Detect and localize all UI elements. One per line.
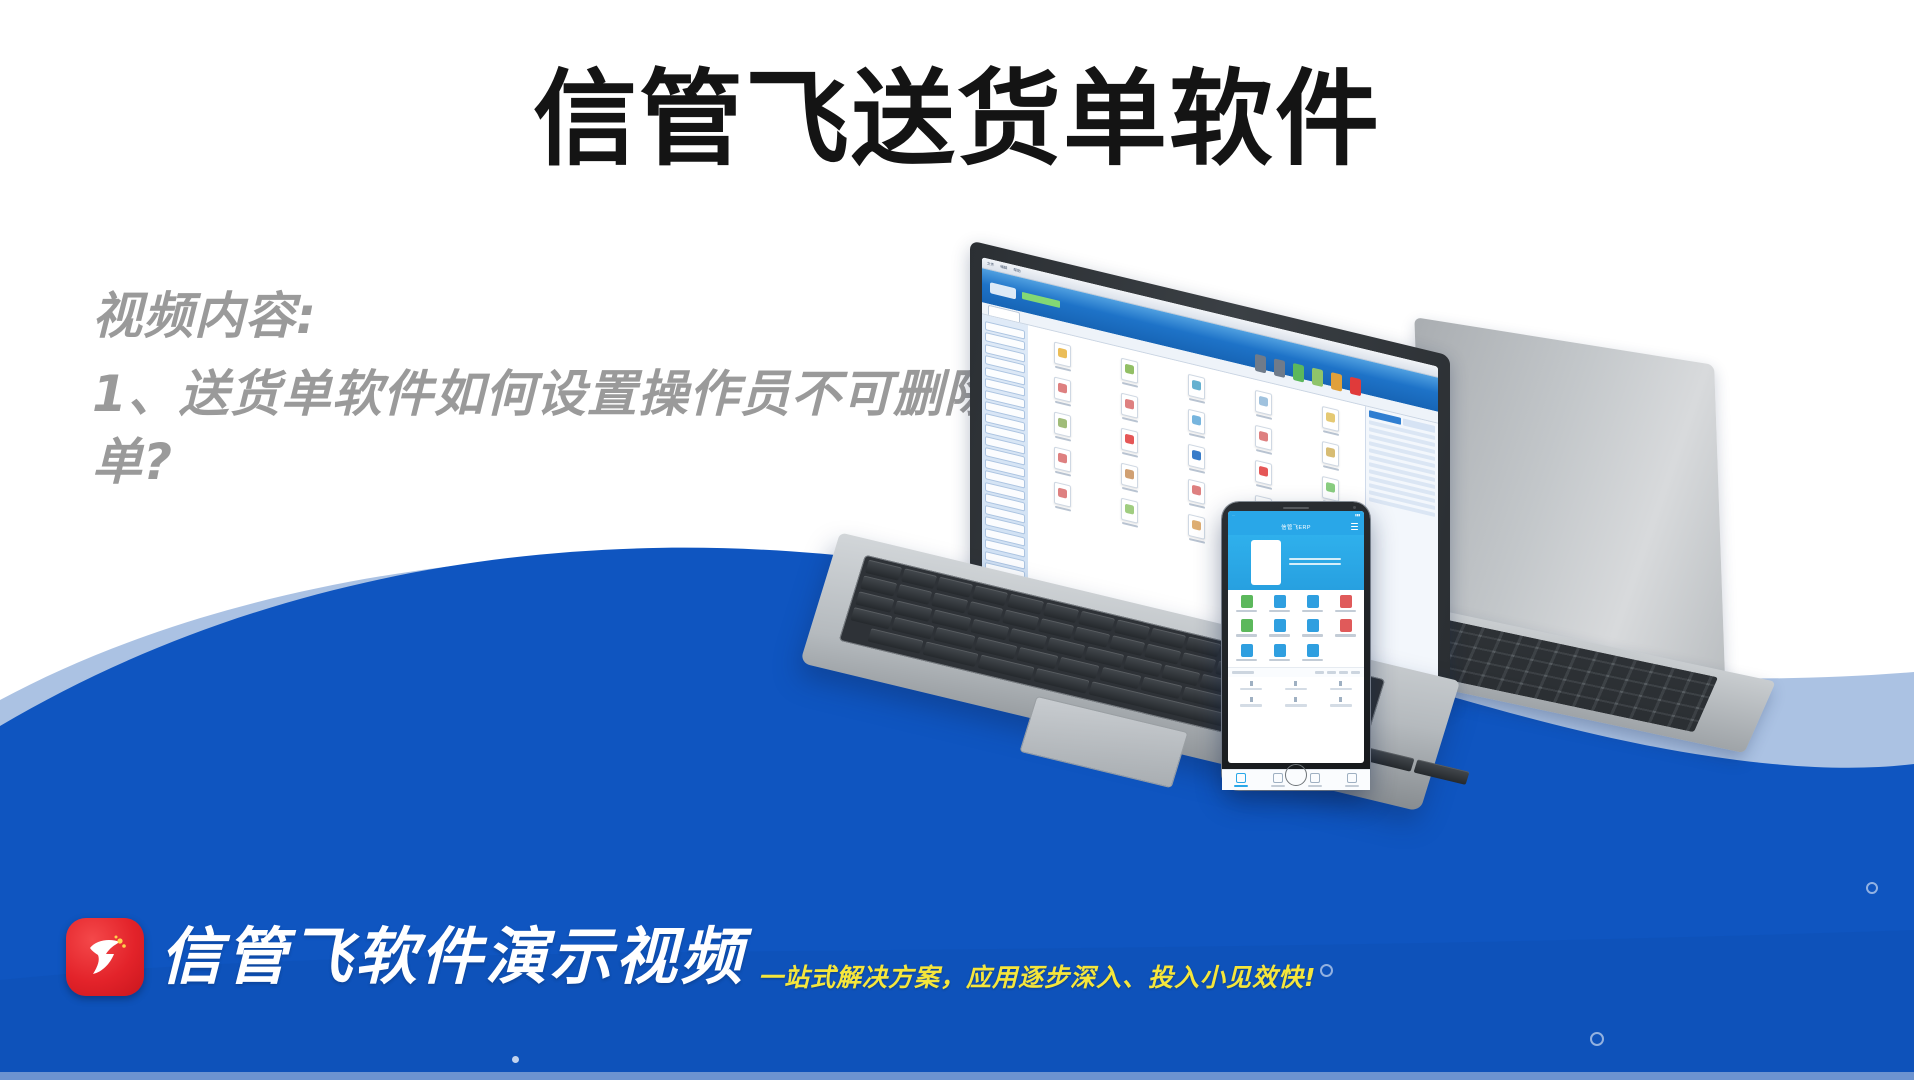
mobile-function-label (1236, 659, 1257, 661)
mobile-function-icon (1241, 595, 1253, 608)
app-tile-icon (1121, 393, 1138, 419)
mobile-function-label (1236, 634, 1257, 636)
mobile-app-stats-grid (1228, 677, 1364, 710)
mobile-function-label (1236, 610, 1257, 612)
right-panel-list (1369, 420, 1435, 517)
app-tile[interactable] (1233, 385, 1294, 426)
app-tile-icon (1054, 412, 1071, 438)
bottom-edge-strip (0, 1072, 1914, 1080)
app-tile[interactable] (1099, 352, 1160, 393)
mobile-stat-cell (1275, 681, 1318, 690)
app-tile-icon (1054, 482, 1071, 508)
app-tile[interactable] (1166, 439, 1227, 480)
mobile-function-tile[interactable] (1297, 619, 1328, 636)
mobile-app-function-grid (1228, 590, 1364, 664)
mobile-function-label (1335, 634, 1356, 636)
section-title-bar (1232, 671, 1254, 674)
banner-phone-illustration (1251, 540, 1281, 585)
app-tile[interactable] (1166, 509, 1227, 550)
mobile-function-label (1269, 659, 1290, 661)
smartphone: ··· ▮▮▮ 信管飞ERP (1222, 502, 1370, 790)
mobile-function-tile[interactable] (1264, 595, 1295, 612)
phone-statusbar: ··· ▮▮▮ (1228, 511, 1364, 518)
mobile-function-tile[interactable] (1264, 619, 1295, 636)
mobile-function-icon (1307, 619, 1319, 632)
mobile-app-title: 信管飞ERP (1281, 523, 1311, 531)
mobile-function-icon (1307, 644, 1319, 657)
mobile-stat-value (1339, 681, 1342, 686)
app-tile-icon (1255, 425, 1272, 451)
mobile-stat-value (1339, 697, 1342, 702)
mobile-stat-value (1294, 681, 1297, 686)
app-tile[interactable] (1032, 442, 1093, 483)
mobile-stat-value (1250, 697, 1253, 702)
mobile-stat-cell (1319, 697, 1362, 706)
app-header-subtitle-bar (1022, 291, 1060, 307)
app-tile[interactable] (1032, 371, 1093, 412)
device-mockup-group: 文件 编辑 帮助 (860, 360, 1914, 840)
app-tile[interactable] (1233, 455, 1294, 496)
mobile-function-icon (1274, 595, 1286, 608)
mobile-function-label (1302, 659, 1323, 661)
mobile-function-tile[interactable] (1330, 595, 1361, 612)
footer-brand: 信管飞软件演示视频 (66, 918, 745, 996)
brand-tagline: 一站式解决方案，应用逐步深入、投入小见效快! (758, 958, 1316, 994)
toolbar-icon-exit[interactable] (1350, 377, 1361, 397)
app-menu-item-file[interactable]: 文件 (987, 261, 994, 268)
mobile-stat-label (1285, 704, 1307, 706)
mobile-function-tile[interactable] (1297, 595, 1328, 612)
mobile-stat-value (1294, 697, 1297, 702)
app-tile[interactable] (1099, 387, 1160, 428)
mobile-function-tile[interactable] (1231, 595, 1262, 612)
toolbar-icon-print[interactable] (1312, 367, 1323, 387)
app-tile-icon (1188, 444, 1205, 470)
app-tile[interactable] (1300, 436, 1361, 477)
app-tile-icon (1121, 428, 1138, 454)
mobile-app-navbar: 信管飞ERP (1228, 518, 1364, 535)
app-tile[interactable] (1300, 401, 1361, 442)
mobile-app-section-header (1228, 667, 1364, 677)
mobile-function-icon (1274, 619, 1286, 632)
mobile-function-label (1335, 610, 1356, 612)
decor-dot (1590, 1032, 1604, 1046)
mobile-stat-cell (1230, 697, 1273, 706)
page-title: 信管飞送货单软件 (0, 58, 1914, 181)
app-tile-icon (1121, 358, 1138, 384)
app-tile[interactable] (1032, 406, 1093, 447)
filter-year[interactable] (1351, 671, 1360, 674)
app-tile-icon (1188, 409, 1205, 435)
mobile-stat-cell (1230, 681, 1273, 690)
app-tile-icon (1121, 498, 1138, 524)
app-tile-icon (1054, 342, 1071, 368)
mobile-function-tile[interactable] (1297, 644, 1328, 661)
mobile-function-tile[interactable] (1231, 619, 1262, 636)
app-tile[interactable] (1099, 458, 1160, 499)
mobile-function-label (1302, 610, 1323, 612)
app-tile-icon (1255, 390, 1272, 416)
video-content-label: 视频内容: (92, 282, 1102, 350)
app-tile-icon (1188, 514, 1205, 540)
mobile-function-icon (1241, 644, 1253, 657)
filter-today[interactable] (1315, 671, 1324, 674)
mobile-stat-label (1330, 704, 1352, 706)
app-menu-item-help[interactable]: 帮助 (1013, 267, 1020, 274)
app-tile[interactable] (1166, 404, 1227, 445)
mobile-function-icon (1274, 644, 1286, 657)
mobile-function-tile[interactable] (1231, 644, 1262, 661)
app-tile[interactable] (1166, 368, 1227, 409)
mobile-function-icon (1340, 595, 1352, 608)
mobile-stat-cell (1319, 681, 1362, 690)
mobile-stat-label (1330, 688, 1352, 690)
app-tile-icon (1322, 476, 1339, 502)
app-tile[interactable] (1099, 423, 1160, 464)
app-tile-icon (1188, 374, 1205, 400)
phone-screen: ··· ▮▮▮ 信管飞ERP (1228, 511, 1364, 763)
mobile-function-label (1269, 610, 1290, 612)
app-tile[interactable] (1032, 477, 1093, 518)
mobile-app-banner (1228, 535, 1364, 590)
mobile-function-label (1302, 634, 1323, 636)
presentation-slide: 信管飞送货单软件 视频内容: 1、送货单软件如何设置操作员不可删除送货单? 文件… (0, 0, 1914, 1080)
app-tile-icon (1121, 463, 1138, 489)
decor-dot (1320, 964, 1333, 977)
mobile-function-tile[interactable] (1264, 644, 1295, 661)
filter-week[interactable] (1327, 671, 1336, 674)
phone-earpiece (1283, 507, 1309, 510)
mobile-function-tile[interactable] (1330, 619, 1361, 636)
phone-home-button[interactable] (1285, 764, 1307, 786)
filter-month[interactable] (1339, 671, 1348, 674)
app-tile[interactable] (1032, 336, 1093, 377)
statusbar-indicators-icon: ▮▮▮ (1355, 513, 1360, 517)
banner-text (1289, 558, 1341, 568)
mobile-stat-value (1250, 681, 1253, 686)
brand-name: 信管飞软件演示视频 (160, 926, 745, 988)
hamburger-menu-icon[interactable] (1351, 523, 1358, 530)
app-tile-icon (1322, 406, 1339, 432)
app-tile-icon (1054, 377, 1071, 403)
app-tile-icon (1054, 447, 1071, 473)
toolbar-icon-export[interactable] (1331, 372, 1342, 392)
toolbar-icon-new[interactable] (1255, 354, 1266, 374)
phone-front-camera-icon (1353, 506, 1356, 509)
decor-dot (512, 1056, 519, 1063)
app-sidebar (982, 314, 1028, 592)
mobile-stat-label (1240, 704, 1262, 706)
mobile-function-icon (1241, 619, 1253, 632)
decor-dot (1866, 882, 1878, 894)
app-tile[interactable] (1166, 474, 1227, 515)
app-tile[interactable] (1099, 493, 1160, 534)
app-logo-icon (990, 282, 1016, 299)
statusbar-carrier: ··· (1232, 513, 1235, 517)
mobile-function-label (1269, 634, 1290, 636)
mobile-stat-label (1285, 688, 1307, 690)
mobile-stat-cell (1275, 697, 1318, 706)
app-right-panel (1365, 406, 1438, 689)
app-tile[interactable] (1233, 420, 1294, 461)
flying-bird-logo-icon (66, 918, 144, 996)
app-menu-item-edit[interactable]: 编辑 (1000, 264, 1007, 271)
mobile-function-icon (1340, 619, 1352, 632)
app-tile-icon (1188, 479, 1205, 505)
mobile-stat-label (1240, 688, 1262, 690)
app-tile-icon (1322, 441, 1339, 467)
mobile-function-icon (1307, 595, 1319, 608)
app-tile-icon (1255, 460, 1272, 486)
toolbar-icon-edit[interactable] (1274, 358, 1285, 378)
toolbar-icon-delete[interactable] (1293, 363, 1304, 383)
